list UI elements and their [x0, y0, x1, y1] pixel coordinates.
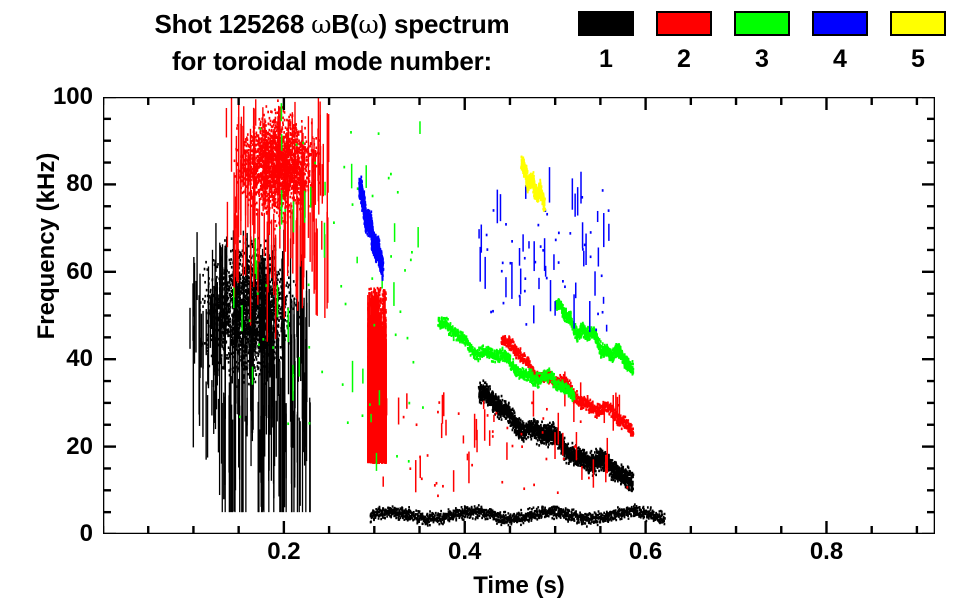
spectral-streak — [219, 243, 220, 300]
title-line-1: Shot 125268 ωB(ω) spectrum — [92, 6, 572, 43]
spectral-point — [501, 395, 503, 398]
spectral-point — [280, 346, 282, 349]
spectral-streak — [239, 277, 240, 324]
spectral-point — [231, 325, 233, 328]
spectral-point — [541, 421, 543, 424]
spectrogram-figure: Shot 125268 ωB(ω) spectrum for toroidal … — [0, 0, 963, 615]
spectral-point — [603, 465, 605, 468]
spectral-point — [255, 369, 257, 372]
figure-title: Shot 125268 ωB(ω) spectrum for toroidal … — [92, 6, 572, 80]
spectral-point — [595, 448, 597, 451]
spectral-point — [583, 449, 585, 452]
spectral-point — [615, 461, 617, 464]
spectral-point — [278, 334, 280, 337]
spectral-point — [620, 483, 622, 486]
spectral-point — [505, 400, 507, 403]
spectral-point — [229, 281, 231, 284]
legend-label-3: 3 — [755, 47, 769, 72]
spectral-point — [492, 392, 494, 395]
spectral-point — [280, 308, 282, 311]
spectral-streak — [269, 387, 270, 435]
spectral-point — [611, 459, 613, 462]
spectral-point — [228, 321, 230, 324]
spectral-point — [492, 407, 494, 410]
spectral-streak — [294, 339, 295, 391]
spectral-streak — [281, 378, 282, 512]
spectral-point — [257, 354, 259, 357]
title-spectrum-text: ) spectrum — [379, 9, 510, 39]
spectral-point — [232, 330, 234, 333]
spectral-streak — [225, 402, 226, 512]
spectral-point — [239, 259, 241, 262]
spectral-streak — [193, 257, 194, 317]
spectral-point — [248, 260, 250, 263]
spectral-streak — [222, 403, 223, 512]
spectral-point — [397, 516, 399, 518]
spectral-point — [609, 474, 611, 477]
spectral-point — [384, 513, 386, 515]
spectral-streak — [297, 318, 298, 420]
spectral-streak — [281, 259, 282, 348]
spectral-point — [392, 505, 394, 507]
spectral-point — [629, 488, 631, 491]
spectral-point — [202, 305, 204, 308]
spectral-point — [217, 263, 219, 266]
spectral-point — [505, 403, 507, 406]
spectral-streak — [242, 299, 243, 512]
spectral-streak — [261, 425, 262, 512]
legend-swatch-1 — [578, 11, 634, 36]
spectral-point — [565, 462, 567, 465]
spectral-point — [271, 295, 273, 298]
spectral-point — [276, 282, 278, 285]
spectral-point — [231, 237, 233, 240]
spectral-point — [252, 289, 254, 292]
spectral-streak — [228, 395, 229, 472]
spectral-point — [495, 402, 497, 405]
spectral-point — [229, 262, 231, 265]
spectral-point — [498, 399, 500, 402]
spectral-point — [538, 444, 540, 447]
spectral-point — [630, 478, 632, 481]
spectral-point — [489, 385, 491, 388]
spectral-point — [230, 258, 232, 261]
spectral-point — [256, 283, 258, 286]
spectral-point — [530, 438, 532, 441]
spectral-streak — [277, 330, 278, 422]
spectral-point — [230, 294, 232, 297]
spectral-point — [523, 440, 525, 443]
spectral-point — [228, 289, 230, 292]
spectral-point — [255, 295, 257, 298]
spectral-point — [625, 468, 627, 471]
spectral-point — [229, 304, 231, 307]
spectral-point — [612, 479, 614, 482]
spectral-point — [257, 368, 259, 371]
spectral-point — [232, 320, 234, 323]
legend-entry-2: 2 — [656, 11, 712, 72]
spectral-point — [627, 465, 629, 468]
spectral-point — [265, 240, 267, 243]
spectral-streak — [258, 375, 259, 512]
spectral-point — [216, 276, 218, 279]
spectral-point — [479, 382, 481, 385]
spectral-point — [514, 411, 516, 414]
spectral-point — [229, 308, 231, 311]
spectral-point — [226, 357, 228, 360]
spectral-streak — [232, 420, 233, 513]
spectral-point — [522, 438, 524, 441]
spectral-streak — [273, 354, 274, 512]
legend-entry-4: 4 — [812, 11, 868, 72]
spectral-point — [256, 329, 258, 332]
spectral-streak — [260, 255, 261, 437]
spectral-point — [421, 514, 423, 516]
omega-symbol-2: ω — [358, 10, 378, 39]
spectral-point — [248, 265, 250, 268]
spectral-point — [537, 439, 539, 442]
spectral-point — [202, 274, 204, 277]
spectral-streak — [208, 266, 209, 388]
spectral-point — [227, 335, 229, 338]
spectral-streak — [207, 395, 208, 457]
spectral-point — [210, 289, 212, 292]
spectral-streak — [205, 381, 206, 459]
spectral-point — [631, 486, 633, 489]
spectral-streak — [211, 380, 212, 415]
spectral-point — [411, 512, 413, 514]
spectral-point — [523, 422, 525, 425]
spectral-streak — [293, 298, 294, 338]
spectral-point — [228, 357, 230, 360]
spectral-point — [269, 263, 271, 266]
spectral-point — [255, 356, 257, 359]
spectral-point — [577, 464, 579, 467]
spectral-point — [204, 342, 206, 345]
spectral-point — [403, 519, 405, 521]
spectral-point — [495, 393, 497, 396]
legend-swatch-4 — [812, 11, 868, 36]
spectral-point — [501, 402, 503, 405]
x-axis-label: Time (s) — [103, 572, 935, 600]
spectral-point — [277, 324, 279, 327]
spectral-point — [621, 463, 623, 466]
legend-label-1: 1 — [599, 47, 613, 72]
spectral-streak — [269, 317, 270, 378]
spectral-point — [257, 331, 259, 334]
spectral-point — [240, 299, 242, 302]
spectral-point — [534, 430, 536, 433]
spectral-point — [288, 284, 290, 287]
legend-swatch-3 — [734, 11, 790, 36]
spectral-point — [543, 436, 545, 439]
spectral-streak — [309, 289, 310, 327]
spectral-point — [525, 438, 527, 441]
spectral-point — [285, 299, 287, 302]
spectral-point — [614, 480, 616, 483]
spectral-point — [617, 480, 619, 483]
spectral-point — [479, 391, 481, 394]
spectral-point — [251, 243, 253, 246]
spectral-streak — [266, 354, 267, 435]
spectral-point — [549, 422, 551, 425]
spectral-streak — [202, 311, 203, 369]
spectral-point — [241, 287, 243, 290]
spectral-point — [408, 506, 410, 508]
spectral-point — [230, 290, 232, 293]
spectral-point — [543, 442, 545, 445]
spectral-point — [206, 289, 208, 292]
spectral-point — [401, 506, 403, 508]
spectral-point — [547, 446, 549, 449]
spectral-point — [256, 352, 258, 355]
spectral-point — [397, 508, 399, 510]
spectral-streak — [246, 278, 247, 426]
spectral-point — [370, 520, 372, 522]
spectral-point — [571, 442, 573, 445]
spectral-point — [202, 298, 204, 301]
spectral-point — [286, 282, 288, 285]
spectral-streak — [249, 280, 250, 344]
spectral-point — [427, 513, 429, 515]
spectral-point — [537, 420, 539, 423]
spectral-streak — [206, 309, 207, 355]
spectral-point — [534, 420, 536, 423]
spectral-point — [402, 512, 404, 514]
legend-swatch-2 — [656, 11, 712, 36]
legend-entry-5: 5 — [890, 11, 946, 72]
spectral-point — [255, 381, 257, 384]
spectral-point — [285, 296, 287, 299]
spectral-point — [245, 296, 247, 299]
spectral-point — [277, 279, 279, 282]
spectral-point — [556, 432, 558, 435]
spectral-point — [285, 334, 287, 337]
spectral-point — [280, 356, 282, 359]
spectral-point — [278, 319, 280, 322]
spectral-point — [601, 457, 603, 460]
spectral-streak — [244, 331, 245, 421]
spectral-point — [228, 285, 230, 288]
title-shot-text: Shot 125268 — [155, 9, 312, 39]
spectral-streak — [282, 335, 283, 512]
spectral-point — [380, 518, 382, 520]
spectral-point — [540, 424, 542, 427]
spectral-streak — [239, 350, 240, 480]
spectral-streak — [213, 288, 214, 351]
spectral-point — [524, 434, 526, 437]
spectral-point — [382, 509, 384, 511]
spectral-point — [520, 419, 522, 422]
spectral-point — [411, 517, 413, 519]
spectral-streak — [245, 416, 246, 512]
spectral-streak — [223, 393, 224, 500]
spectral-point — [563, 455, 565, 458]
spectral-point — [564, 437, 566, 440]
spectral-point — [228, 361, 230, 364]
spectral-streak — [193, 326, 194, 448]
spectral-point — [229, 275, 231, 278]
spectral-point — [204, 268, 206, 271]
spectral-point — [548, 443, 550, 446]
spectral-point — [279, 269, 281, 272]
spectral-point — [545, 443, 547, 446]
title-b-text: B( — [331, 9, 358, 39]
spectral-streak — [306, 316, 307, 357]
spectral-point — [375, 515, 377, 517]
spectral-point — [248, 383, 250, 386]
spectral-point — [597, 463, 599, 466]
spectral-point — [204, 281, 206, 284]
spectral-streak — [302, 404, 303, 451]
plot-area: 0.20.40.60.8020406080100 — [103, 97, 935, 534]
spectral-streak — [210, 301, 211, 348]
spectral-point — [256, 358, 258, 361]
spectral-point — [590, 450, 592, 453]
spectral-point — [527, 436, 529, 439]
spectral-point — [205, 261, 207, 264]
legend: 12345 — [578, 11, 958, 89]
spectral-point — [530, 435, 532, 438]
spectral-streak — [230, 323, 231, 512]
spectral-point — [231, 333, 233, 336]
spectral-streak — [198, 295, 199, 414]
spectral-point — [595, 470, 597, 473]
spectral-point — [516, 434, 518, 437]
spectral-point — [255, 373, 257, 376]
spectral-point — [514, 431, 516, 434]
spectral-point — [287, 286, 289, 289]
spectral-streak — [309, 398, 310, 513]
spectral-point — [230, 287, 232, 290]
spectral-point — [204, 301, 206, 304]
spectral-point — [216, 266, 218, 269]
spectral-point — [553, 422, 555, 425]
spectral-point — [596, 451, 598, 454]
spectral-point — [239, 240, 241, 243]
spectral-point — [279, 312, 281, 315]
title-line-2: for toroidal mode number: — [92, 43, 572, 80]
spectral-point — [226, 354, 228, 357]
spectral-point — [276, 274, 278, 277]
spectral-point — [277, 271, 279, 274]
legend-entry-3: 3 — [734, 11, 790, 72]
spectral-point — [415, 509, 417, 511]
spectral-point — [245, 290, 247, 293]
spectral-point — [493, 410, 495, 413]
spectral-point — [480, 402, 482, 405]
spectral-streak — [195, 281, 196, 353]
spectral-point — [407, 517, 409, 519]
spectral-streak — [284, 393, 285, 507]
spectral-point — [608, 454, 610, 457]
spectral-point — [256, 322, 258, 325]
spectral-point — [395, 517, 397, 519]
spectral-point — [408, 509, 410, 511]
spectral-point — [594, 451, 596, 454]
legend-swatch-5 — [890, 11, 946, 36]
spectral-point — [516, 418, 518, 421]
spectral-streak — [297, 412, 298, 512]
spectral-point — [500, 415, 502, 418]
spectral-point — [419, 510, 421, 512]
spectral-streak — [232, 338, 233, 383]
spectral-point — [620, 474, 622, 477]
legend-label-5: 5 — [911, 47, 925, 72]
spectral-point — [553, 426, 555, 429]
spectral-point — [559, 432, 561, 435]
spectral-point — [398, 518, 400, 520]
spectral-streak — [291, 303, 292, 512]
spectral-point — [488, 390, 490, 393]
spectral-point — [286, 284, 288, 287]
spectral-point — [405, 518, 407, 520]
spectral-streak — [268, 405, 269, 481]
spectral-streak — [293, 411, 294, 512]
spectrogram-canvas — [103, 97, 935, 534]
spectral-point — [229, 259, 231, 262]
y-axis-label: Frequency (kHz) — [33, 136, 61, 356]
spectral-streak — [262, 255, 263, 329]
spectral-point — [536, 443, 538, 446]
spectral-streak — [217, 282, 218, 385]
spectral-point — [519, 435, 521, 438]
spectral-point — [230, 250, 232, 253]
spectral-point — [391, 513, 393, 515]
spectral-point — [228, 271, 230, 274]
spectral-point — [487, 386, 489, 389]
spectral-point — [389, 507, 391, 509]
spectral-point — [288, 276, 290, 279]
spectral-point — [598, 470, 600, 473]
omega-symbol-1: ω — [311, 10, 331, 39]
spectral-point — [595, 474, 597, 477]
spectral-point — [422, 522, 424, 524]
spectral-streak — [278, 337, 279, 396]
spectral-point — [248, 245, 250, 248]
spectral-point — [612, 476, 614, 479]
spectral-point — [257, 362, 259, 365]
spectral-point — [378, 517, 380, 519]
spectral-point — [245, 317, 247, 320]
spectral-point — [293, 280, 295, 283]
spectral-point — [386, 515, 388, 517]
spectral-point — [204, 295, 206, 298]
spectral-point — [511, 408, 513, 411]
spectral-point — [632, 481, 634, 484]
spectral-point — [622, 466, 624, 469]
spectral-streak — [299, 418, 300, 513]
spectral-point — [413, 511, 415, 513]
spectral-point — [257, 316, 259, 319]
spectral-point — [574, 462, 576, 465]
spectral-point — [228, 346, 230, 349]
spectral-point — [551, 436, 553, 439]
spectral-point — [542, 441, 544, 444]
spectral-point — [390, 516, 392, 518]
spectral-point — [228, 324, 230, 327]
spectral-point — [379, 506, 381, 508]
legend-label-2: 2 — [677, 47, 691, 72]
spectral-point — [514, 415, 516, 418]
spectral-streak — [189, 308, 190, 349]
spectral-point — [384, 517, 386, 519]
spectral-point — [224, 239, 226, 242]
spectral-point — [239, 254, 241, 257]
spectral-streak — [221, 299, 222, 347]
spectral-streak — [235, 415, 236, 490]
spectral-streak — [254, 285, 255, 329]
